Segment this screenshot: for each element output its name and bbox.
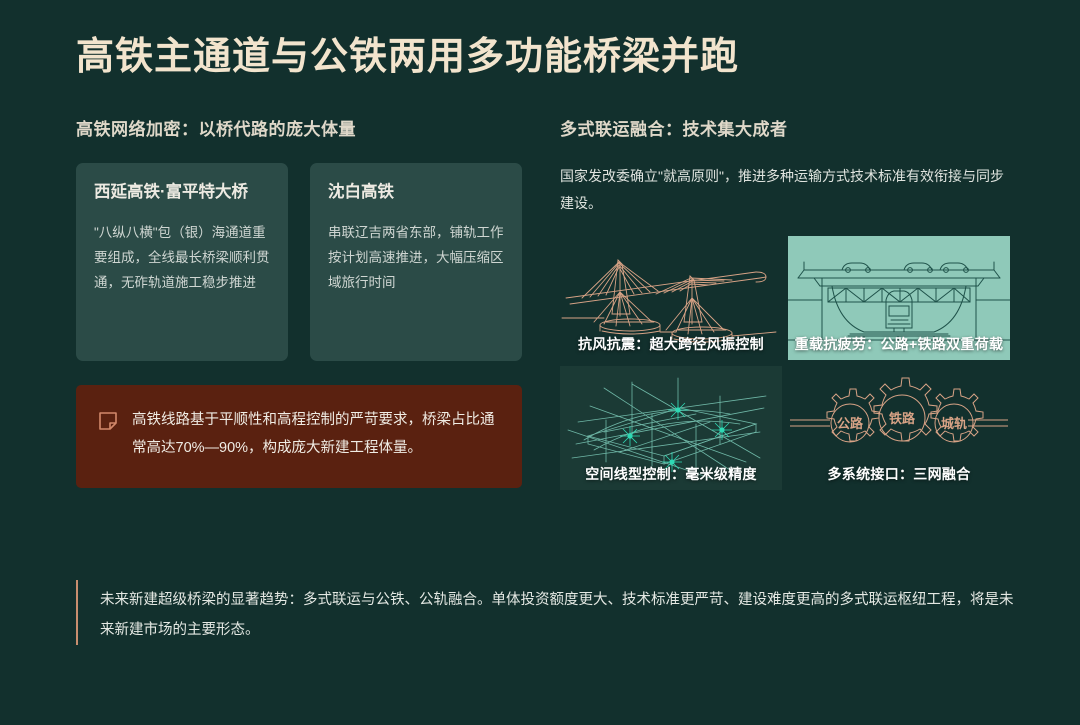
tile-alignment-control[interactable]: 空间线型控制：毫米级精度 xyxy=(560,366,782,490)
right-intro-text: 国家发改委确立"就高原则"，推进多种运输方式技术标准有效衔接与同步建设。 xyxy=(560,163,1012,216)
content-columns: 高铁网络加密：以桥代路的庞大体量 西延高铁·富平特大桥 "八纵八横"包（银）海通… xyxy=(76,118,1020,491)
footer-summary: 未来新建超级桥梁的显著趋势：多式联运与公铁、公轨融合。单体投资额度更大、技术标准… xyxy=(76,580,1020,645)
info-card-shenbai[interactable]: 沈白高铁 串联辽吉两省东部，铺轨工作按计划高速推进，大幅压缩区域旅行时间 xyxy=(310,163,522,361)
footer-accent-bar xyxy=(76,580,78,645)
right-column: 多式联运融合：技术集大成者 国家发改委确立"就高原则"，推进多种运输方式技术标准… xyxy=(560,118,1012,491)
gear-label-highway: 公路 xyxy=(837,416,864,431)
info-card-body: 串联辽吉两省东部，铺轨工作按计划高速推进，大幅压缩区域旅行时间 xyxy=(328,221,504,296)
info-card-body: "八纵八横"包（银）海通道重要组成，全线最长桥梁顺利贯通，无砟轨道施工稳步推进 xyxy=(94,221,270,296)
info-card-xiyan[interactable]: 西延高铁·富平特大桥 "八纵八横"包（银）海通道重要组成，全线最长桥梁顺利贯通，… xyxy=(76,163,288,361)
gear-label-railway: 铁路 xyxy=(888,411,916,426)
footer-text: 未来新建超级桥梁的显著趋势：多式联运与公铁、公轨融合。单体投资额度更大、技术标准… xyxy=(100,580,1020,645)
note-icon xyxy=(98,411,118,436)
info-card-title: 西延高铁·富平特大桥 xyxy=(94,181,270,205)
tile-label: 重载抗疲劳：公路+铁路双重荷载 xyxy=(788,334,1010,354)
tile-label: 多系统接口：三网融合 xyxy=(788,464,1010,484)
tile-label: 空间线型控制：毫米级精度 xyxy=(560,464,782,484)
info-card-row: 西延高铁·富平特大桥 "八纵八横"包（银）海通道重要组成，全线最长桥梁顺利贯通，… xyxy=(76,163,522,361)
tile-wind-seismic[interactable]: 抗风抗震：超大跨径风振控制 xyxy=(560,236,782,360)
callout-box: 高铁线路基于平顺性和高程控制的严苛要求，桥梁占比通常高达70%—90%，构成庞大… xyxy=(76,385,522,488)
page-title: 高铁主通道与公铁两用多功能桥梁并跑 xyxy=(76,34,1020,82)
right-section-heading: 多式联运融合：技术集大成者 xyxy=(560,118,1012,142)
tile-multi-system[interactable]: 公路 铁路 城轨 多系统接口：三网融合 xyxy=(788,366,1010,490)
gear-label-metro: 城轨 xyxy=(941,416,967,431)
left-section-heading: 高铁网络加密：以桥代路的庞大体量 xyxy=(76,118,522,142)
slide-root: 高铁主通道与公铁两用多功能桥梁并跑 高铁网络加密：以桥代路的庞大体量 西延高铁·… xyxy=(0,0,1080,725)
left-column: 高铁网络加密：以桥代路的庞大体量 西延高铁·富平特大桥 "八纵八横"包（银）海通… xyxy=(76,118,522,489)
feature-tile-grid: 抗风抗震：超大跨径风振控制 xyxy=(560,236,1012,490)
tile-label: 抗风抗震：超大跨径风振控制 xyxy=(560,334,782,354)
callout-text: 高铁线路基于平顺性和高程控制的严苛要求，桥梁占比通常高达70%—90%，构成庞大… xyxy=(132,407,496,462)
info-card-title: 沈白高铁 xyxy=(328,181,504,205)
tile-heavy-load[interactable]: 重载抗疲劳：公路+铁路双重荷载 xyxy=(788,236,1010,360)
